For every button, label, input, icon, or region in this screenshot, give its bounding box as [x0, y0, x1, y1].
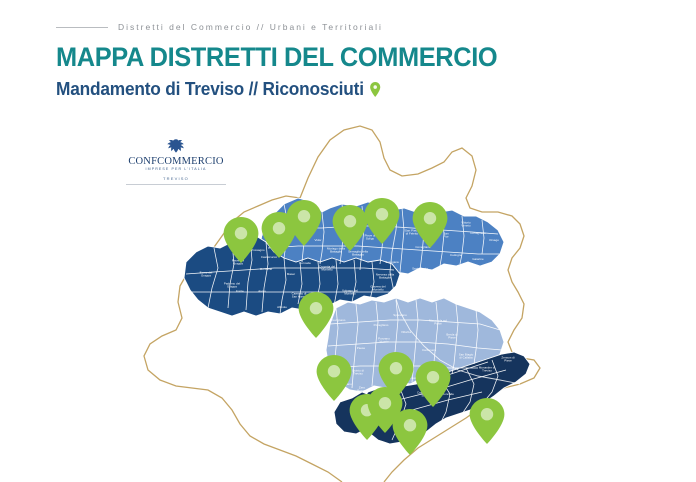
treviso-province-map[interactable]: Borso delGrappaPieve delGrappaPossagnoCa…	[0, 112, 696, 482]
municipality-label: Povegliano	[374, 323, 389, 327]
municipality-label: Maser	[287, 272, 295, 276]
municipality-label: Codogne	[450, 253, 462, 257]
pin-hole	[424, 212, 436, 224]
municipality-label: Arcade	[390, 295, 400, 299]
municipality-label: Cornuda	[299, 261, 311, 265]
municipality-label: Vazzola	[447, 283, 458, 287]
municipality-label: Fonte	[236, 289, 244, 293]
map-svg[interactable]: Borso delGrappaPieve delGrappaPossagnoCa…	[0, 112, 696, 482]
eyebrow: Distretti del Commercio // Urbani e Terr…	[56, 20, 383, 34]
pin-hole	[235, 227, 247, 239]
pin-body	[470, 398, 505, 444]
municipality-label: Borso delGrappa	[200, 270, 213, 277]
municipality-label: SanFior	[443, 231, 449, 238]
eyebrow-label: Distretti del Commercio // Urbani e Terr…	[118, 22, 383, 32]
pin-hole	[310, 302, 322, 314]
municipality-label: Monfumo	[260, 267, 273, 271]
district-pin[interactable]: Distretto riconosciuto	[299, 292, 334, 338]
municipality-label: Villorba	[401, 330, 411, 334]
municipality-label: Vidor	[315, 238, 322, 242]
municipality-label: Carbonera	[422, 348, 436, 352]
page-title: MAPPA DISTRETTI DEL COMMERCIO	[56, 42, 497, 73]
municipality-label: Trevignano	[331, 318, 346, 322]
pin-hole	[404, 419, 416, 431]
municipality-label: Pieve diSoligo	[365, 233, 376, 240]
pin-body	[299, 292, 334, 338]
page-subtitle-text: Mandamento di Treviso // Riconosciuti	[56, 78, 364, 100]
poster-page: Distretti del Commercio // Urbani e Terr…	[0, 0, 696, 482]
page-subtitle: Mandamento di Treviso // Riconosciuti	[56, 78, 380, 100]
pin-hole	[344, 215, 356, 227]
district-pin[interactable]: Distretto riconosciuto	[317, 355, 352, 401]
pin-hole	[379, 397, 391, 409]
pin-hole	[390, 362, 402, 374]
municipality-label: Paese	[357, 346, 366, 350]
eyebrow-rule	[56, 27, 108, 28]
municipality-label: Gaiarine	[472, 257, 484, 261]
pin-hole	[427, 371, 439, 383]
municipality-label: Santa Luciadi Piave	[412, 266, 428, 273]
municipality-label: Orsago	[489, 238, 499, 242]
municipality-label: Cordignano	[470, 231, 486, 235]
map-pin-icon	[370, 82, 381, 97]
municipality-label: Spresiano	[393, 313, 407, 317]
municipality-label: Possagno	[251, 248, 265, 252]
municipality-label: Asolo	[258, 289, 266, 293]
pin-hole	[376, 208, 388, 220]
district-pin[interactable]: Distretto riconosciuto	[393, 409, 428, 455]
municipality-label: San Biagiodi Callalta	[459, 352, 474, 359]
municipality-label: Quinto diTreviso	[352, 368, 364, 375]
municipality-label: VittorioVeneto	[461, 220, 471, 227]
pin-body	[317, 355, 352, 401]
pin-hole	[481, 408, 493, 420]
pin-body	[393, 409, 428, 455]
municipality-label: Giavera delMontello	[370, 284, 386, 291]
municipality-label: Castelcucco	[261, 255, 278, 259]
pin-hole	[273, 222, 285, 234]
pin-hole	[298, 210, 310, 222]
municipality-label: Altivole	[277, 305, 287, 309]
district-pin[interactable]: Distretto riconosciuto	[470, 398, 505, 444]
pin-hole	[328, 365, 340, 377]
municipality-label: PonzanoVeneto	[378, 336, 390, 343]
municipality-label: Susegana	[385, 260, 399, 264]
municipality-label: Mareno diPiave	[434, 270, 448, 277]
